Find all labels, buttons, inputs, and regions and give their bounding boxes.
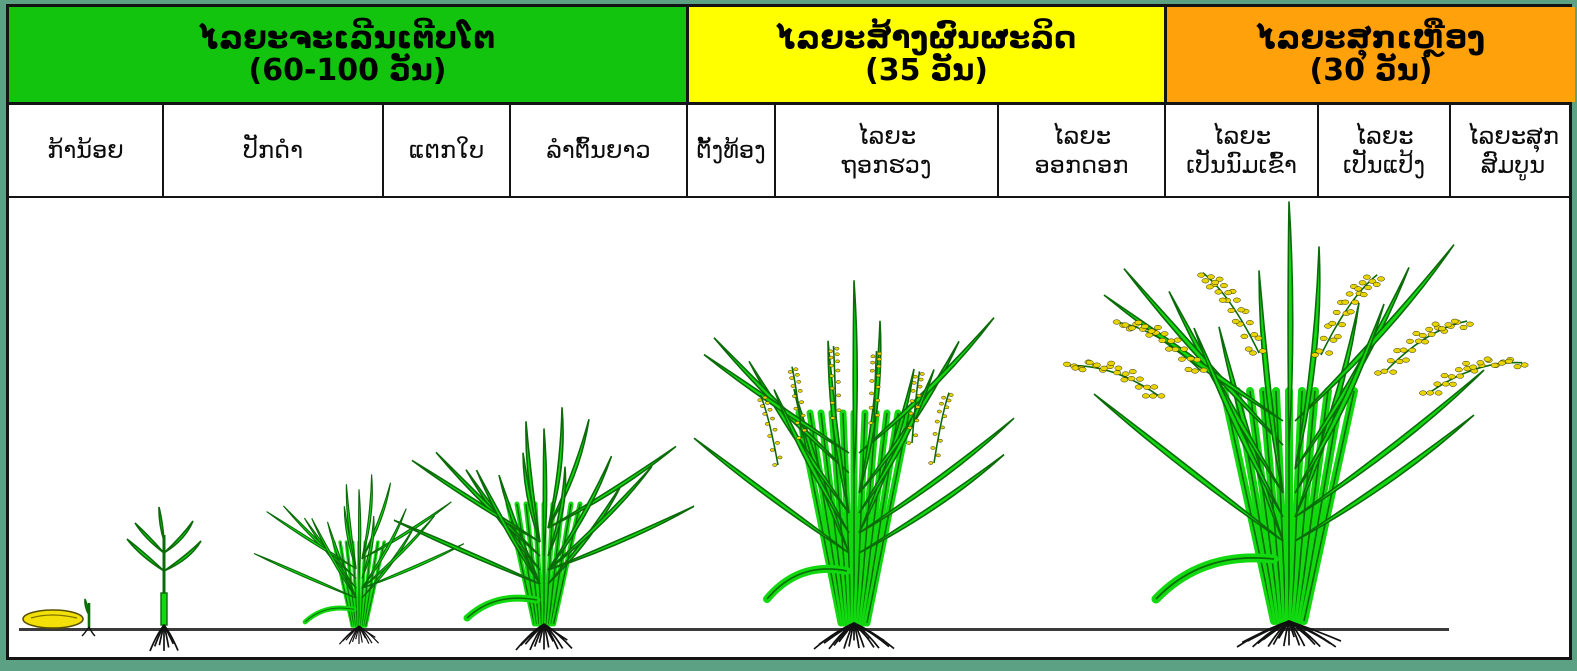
rice-plant-tillering xyxy=(409,386,679,631)
phase-duration-ripening: (30 ວັນ) xyxy=(1310,56,1433,87)
stage-label-stem-elongate: ລຳຕົ້ນຍາວ xyxy=(546,136,650,164)
stage-label-line: ໄລຍະ xyxy=(842,122,932,150)
stage-label-milk-grain: ໄລຍະເປັນນົມເຂົ້າ xyxy=(1186,122,1297,179)
stage-label-line: ໄລຍະ xyxy=(1186,122,1297,150)
chart-board: ໄລຍະຈະເລີນເຕີບໂຕ(60-100 ວັນ)ໄລຍະສ້າງຜົນຜ… xyxy=(6,4,1572,660)
phase-name-ripening: ໄລຍະສຸກເຫຼືອງ xyxy=(1257,23,1486,55)
stage-header-row: ກ້ານ້ອຍປັກດຳແຕກໃບລຳຕົ້ນຍາວຕັ້ງທ້ອງໄລຍະຖອ… xyxy=(9,105,1569,198)
stage-label-line: ລຳຕົ້ນຍາວ xyxy=(546,136,650,164)
stage-label-line: ໄລຍະສຸກ xyxy=(1467,122,1559,150)
phase-header-reproductive: ໄລຍະສ້າງຜົນຜະລິດ(35 ວັນ) xyxy=(686,7,1164,102)
stage-label-line: ປັກດຳ xyxy=(243,136,303,164)
phase-duration-vegetative: (60-100 ວັນ) xyxy=(249,56,447,87)
phase-header-row: ໄລຍະຈະເລີນເຕີບໂຕ(60-100 ວັນ)ໄລຍະສ້າງຜົນຜ… xyxy=(9,7,1569,105)
stage-header-dough-grain: ໄລຍະເປັນແປ້ງ xyxy=(1317,105,1449,196)
stage-label-line: ແຕກໃບ xyxy=(409,136,484,164)
phase-header-ripening: ໄລຍະສຸກເຫຼືອງ(30 ວັນ) xyxy=(1164,7,1575,102)
stage-header-seed: ກ້ານ້ອຍ xyxy=(9,105,162,196)
stage-header-milk-grain: ໄລຍະເປັນນົມເຂົ້າ xyxy=(1164,105,1317,196)
stage-label-flowering: ໄລຍະອອກດອກ xyxy=(1035,122,1129,179)
stage-header-stem-elongate: ລຳຕົ້ນຍາວ xyxy=(509,105,686,196)
plant-illustration-panel xyxy=(9,198,1569,657)
stage-label-line: ຖອກຮວງ xyxy=(842,151,932,179)
phase-name-reproductive: ໄລຍະສ້າງຜົນຜະລິດ xyxy=(777,23,1077,55)
stage-header-booting: ຕັ້ງທ້ອງ xyxy=(686,105,774,196)
phase-header-vegetative: ໄລຍະຈະເລີນເຕີບໂຕ(60-100 ວັນ) xyxy=(9,7,686,102)
stage-label-line: ອອກດອກ xyxy=(1035,151,1129,179)
stage-label-heading: ໄລຍະຖອກຮວງ xyxy=(842,122,932,179)
phase-name-vegetative: ໄລຍະຈະເລີນເຕີບໂຕ xyxy=(199,23,495,55)
stage-label-transplant: ປັກດຳ xyxy=(243,136,303,164)
stage-header-heading: ໄລຍະຖອກຮວງ xyxy=(774,105,997,196)
rice-growth-stage-chart: ໄລຍະຈະເລີນເຕີບໂຕ(60-100 ວັນ)ໄລຍະສ້າງຜົນຜ… xyxy=(0,0,1577,671)
stage-label-dough-grain: ໄລຍະເປັນແປ້ງ xyxy=(1343,122,1425,179)
stage-header-transplant: ປັກດຳ xyxy=(162,105,382,196)
stage-label-line: ໄລຍະ xyxy=(1035,122,1129,150)
stage-header-full-ripe: ໄລຍະສຸກສົມບູນ xyxy=(1449,105,1575,196)
stage-header-leafing: ແຕກໃບ xyxy=(382,105,509,196)
stage-label-line: ເປັນນົມເຂົ້າ xyxy=(1186,151,1297,179)
rice-plant-heading xyxy=(689,231,1019,631)
rice-plant-seed xyxy=(19,591,129,631)
phase-duration-reproductive: (35 ວັນ) xyxy=(865,56,988,87)
stage-label-line: ເປັນແປ້ງ xyxy=(1343,151,1425,179)
stage-label-booting: ຕັ້ງທ້ອງ xyxy=(696,136,765,164)
stage-label-line: ໄລຍະ xyxy=(1343,122,1425,150)
stage-label-leafing: ແຕກໃບ xyxy=(409,136,484,164)
stage-header-flowering: ໄລຍະອອກດອກ xyxy=(997,105,1164,196)
stage-label-line: ສົມບູນ xyxy=(1467,151,1559,179)
stage-label-line: ກ້ານ້ອຍ xyxy=(47,136,124,164)
rice-plant-seedling xyxy=(119,501,209,631)
rice-plant-ripe xyxy=(1074,201,1504,631)
stage-label-seed: ກ້ານ້ອຍ xyxy=(47,136,124,164)
stage-label-line: ຕັ້ງທ້ອງ xyxy=(696,136,765,164)
stage-label-full-ripe: ໄລຍະສຸກສົມບູນ xyxy=(1467,122,1559,179)
